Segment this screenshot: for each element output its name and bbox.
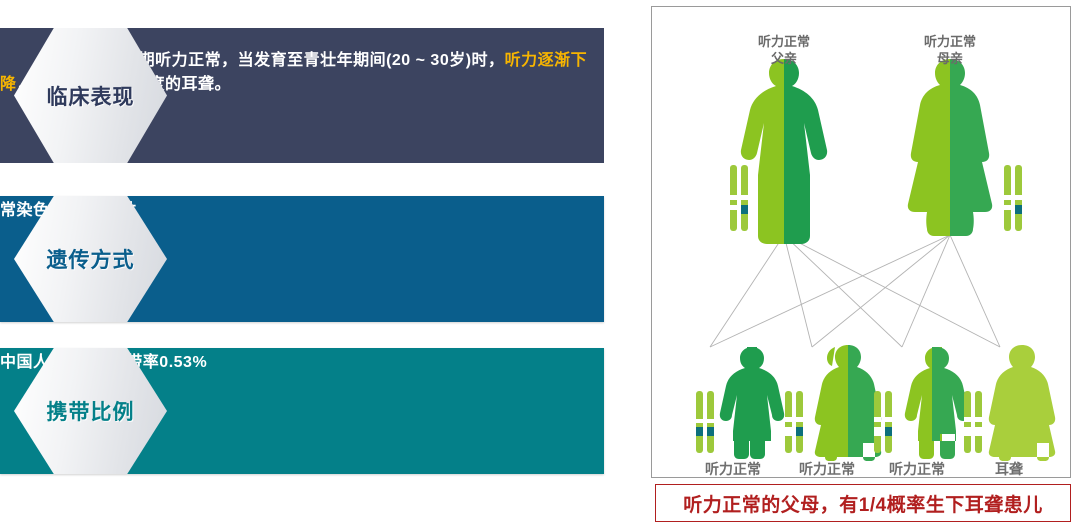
- label-mother: 听力正常 母亲: [890, 33, 1010, 67]
- left-info-panel: 患者青少年时期听力正常，当发育至青壮年期间(20 ~ 30岁)时，听力逐渐下降，…: [0, 0, 640, 524]
- pedigree-panel: 听力正常 父亲 听力正常 母亲 听力正常 听力正常 听力正常 耳聋: [651, 6, 1071, 478]
- inheritance-lines: [710, 235, 1000, 347]
- chromosomes-child-1: [696, 391, 714, 453]
- label-child-4: 耳聋: [964, 459, 1054, 479]
- pedigree-caption-text: 听力正常的父母，有1/4概率生下耳聋患儿: [683, 490, 1042, 517]
- figure-child-2: [815, 345, 881, 461]
- label-child-2: 听力正常: [782, 459, 872, 479]
- label-father: 听力正常 父亲: [724, 33, 844, 67]
- figure-child-4: [989, 345, 1055, 461]
- figure-mother: [908, 59, 992, 236]
- info-row-inheritance: 常染色体显性/隐性 遗传方式: [0, 196, 604, 322]
- slide-root: 患者青少年时期听力正常，当发育至青壮年期间(20 ~ 30岁)时，听力逐渐下降，…: [0, 0, 1078, 524]
- label-child-3: 听力正常: [872, 459, 962, 479]
- figure-child-3: [905, 347, 969, 459]
- info-tag-label: 临床表现: [47, 81, 135, 111]
- figure-child-1: [720, 347, 784, 459]
- pedigree-diagram: 听力正常 父亲 听力正常 母亲 听力正常 听力正常 听力正常 耳聋: [652, 7, 1070, 477]
- pedigree-svg: [652, 7, 1070, 477]
- chromosomes-child-2: [785, 391, 803, 453]
- info-tag-label: 遗传方式: [47, 244, 135, 274]
- pedigree-caption-box: 听力正常的父母，有1/4概率生下耳聋患儿: [655, 484, 1071, 522]
- info-row-carrier-rate: 中国人群GJB3携带率0.53% 携带比例: [0, 348, 604, 474]
- info-row-clinical: 患者青少年时期听力正常，当发育至青壮年期间(20 ~ 30岁)时，听力逐渐下降，…: [0, 28, 604, 163]
- chromosomes-child-4: [964, 391, 982, 453]
- chromosomes-mother: [1004, 165, 1022, 231]
- info-tag-label: 携带比例: [47, 396, 135, 426]
- label-child-1: 听力正常: [688, 459, 778, 479]
- chromosomes-child-3: [874, 391, 892, 453]
- chromosomes-father: [730, 165, 748, 231]
- figure-father: [741, 59, 827, 244]
